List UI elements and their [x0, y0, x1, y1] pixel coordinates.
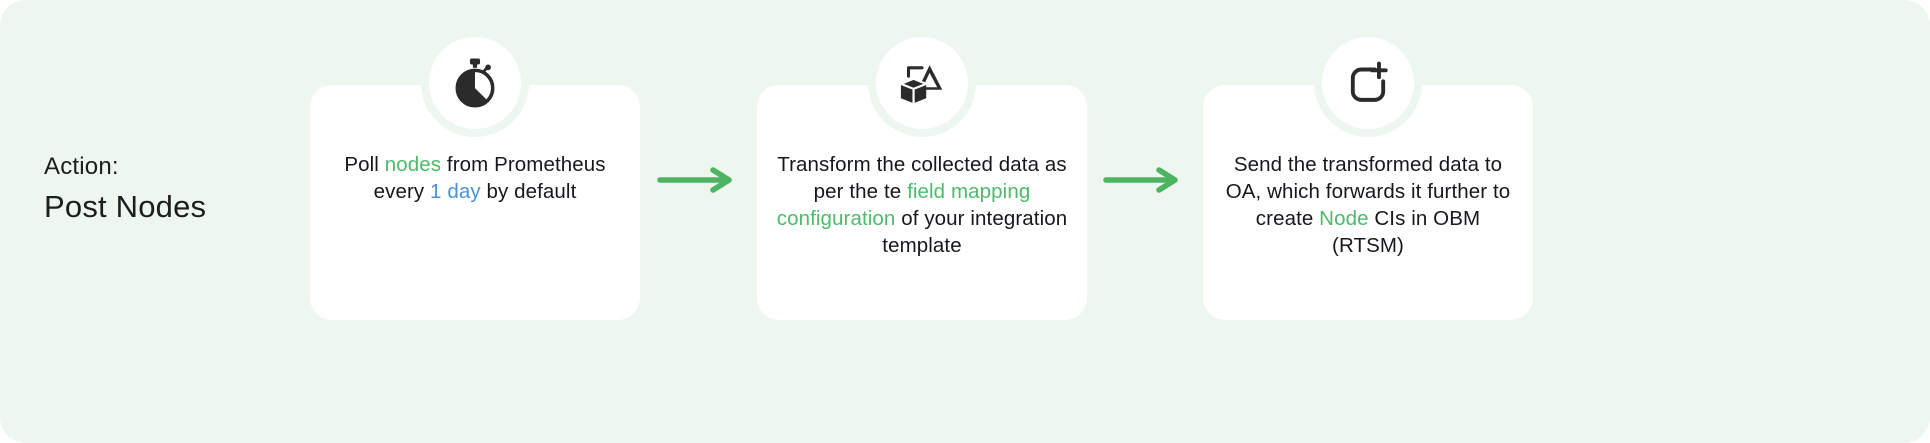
- arrow-step2-to-step3: [1103, 167, 1183, 193]
- text-segment: of your integration template: [882, 207, 1067, 257]
- diagram-canvas: Action: Post Nodes Poll nodes from Prome…: [0, 0, 1930, 443]
- step-card-3[interactable]: Send the transformed data to OA, which f…: [1203, 85, 1533, 320]
- action-title: Post Nodes: [44, 186, 294, 228]
- text-segment: by default: [481, 180, 577, 203]
- text-segment-highlight: nodes: [385, 153, 441, 176]
- add-node-icon: [1314, 29, 1422, 137]
- step-card-2[interactable]: Transform the collected data as per the …: [757, 85, 1087, 320]
- stopwatch-icon: [421, 29, 529, 137]
- step-card-2-text: Transform the collected data as per the …: [771, 151, 1073, 259]
- text-segment: Poll: [344, 153, 384, 176]
- arrow-step1-to-step2: [657, 167, 737, 193]
- action-label-block: Action: Post Nodes: [44, 150, 294, 228]
- text-segment-highlight: Node: [1319, 207, 1368, 230]
- transform-shapes-icon: [868, 29, 976, 137]
- action-kicker: Action:: [44, 150, 294, 184]
- step-card-1[interactable]: Poll nodes from Prometheus every 1 day b…: [310, 85, 640, 320]
- step-card-1-text: Poll nodes from Prometheus every 1 day b…: [324, 151, 626, 205]
- text-segment-highlight: 1 day: [430, 180, 481, 203]
- step-card-3-text: Send the transformed data to OA, which f…: [1217, 151, 1519, 259]
